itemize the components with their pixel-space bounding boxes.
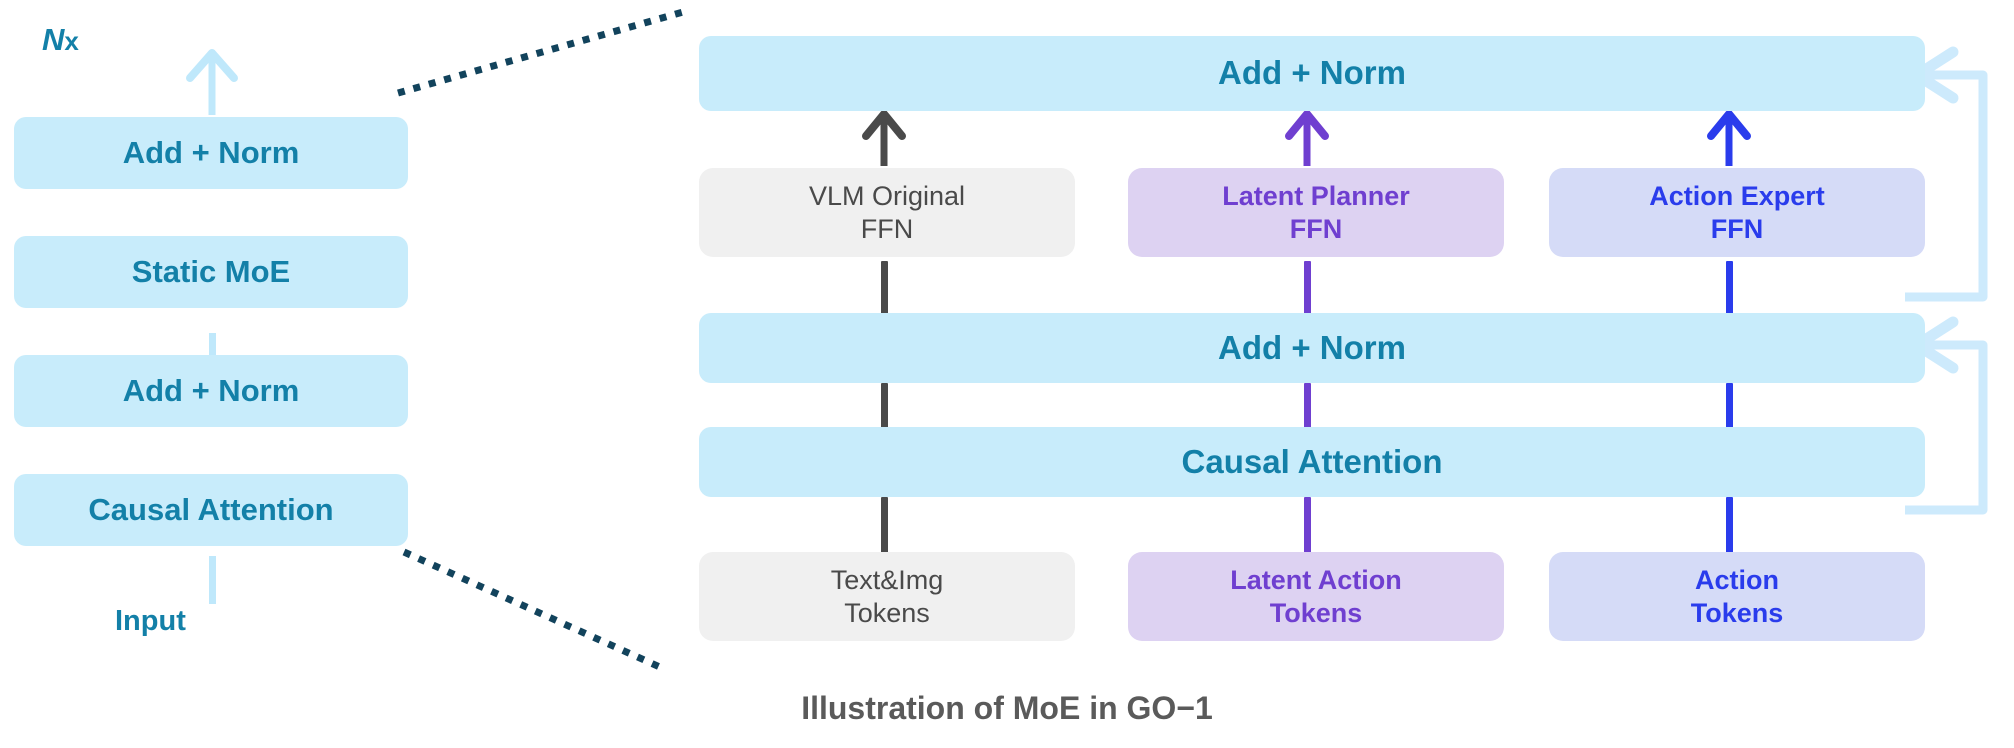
token-box-text-img-line2: Tokens <box>831 597 944 630</box>
token-box-action[interactable]: Action Tokens <box>1549 552 1925 641</box>
ffn-box-action-expert-line2: FFN <box>1649 213 1825 246</box>
ffn-box-latent-planner[interactable]: Latent Planner FFN <box>1128 168 1504 257</box>
ffn-box-latent-planner-line1: Latent Planner <box>1222 180 1410 213</box>
arrow-latent-planner-ffn-to-add-norm <box>1289 114 1325 166</box>
right-top-add-norm-bar[interactable]: Add + Norm <box>699 36 1925 111</box>
repeat-count-value: N <box>42 22 64 57</box>
right-top-add-norm-label: Add + Norm <box>1218 53 1406 93</box>
right-causal-attention-label: Causal Attention <box>1182 442 1443 482</box>
left-spine-segment-4 <box>209 556 216 604</box>
ffn-box-vlm-original-line2: FFN <box>809 213 965 246</box>
dotted-connector-bottom <box>404 552 662 668</box>
connector-text-img-tokens-up <box>881 497 888 554</box>
arrow-vlm-ffn-to-add-norm <box>866 114 902 166</box>
right-mid-add-norm-label: Add + Norm <box>1218 328 1406 368</box>
connector-mid-to-attn-grey <box>881 383 888 428</box>
right-causal-attention-bar[interactable]: Causal Attention <box>699 427 1925 497</box>
connector-mid-to-attn-purple <box>1304 383 1311 428</box>
ffn-box-action-expert-line1: Action Expert <box>1649 180 1825 213</box>
ffn-box-latent-planner-line2: FFN <box>1222 213 1410 246</box>
connector-mid-to-attn-blue <box>1726 383 1733 428</box>
repeat-count-label: Nx <box>42 22 79 58</box>
left-block-causal-attention[interactable]: Causal Attention <box>14 474 408 546</box>
left-block-static-moe[interactable]: Static MoE <box>14 236 408 308</box>
ffn-box-vlm-original[interactable]: VLM Original FFN <box>699 168 1075 257</box>
diagram-canvas: Nx Add + Norm Static MoE Add + Norm Caus… <box>0 0 2014 748</box>
left-block-static-moe-label: Static MoE <box>132 253 290 291</box>
dotted-connector-top <box>398 10 690 93</box>
connector-latent-planner-ffn-down <box>1304 261 1311 315</box>
ffn-box-action-expert[interactable]: Action Expert FFN <box>1549 168 1925 257</box>
token-box-action-line1: Action <box>1691 564 1784 597</box>
connector-action-expert-ffn-down <box>1726 261 1733 315</box>
right-mid-add-norm-bar[interactable]: Add + Norm <box>699 313 1925 383</box>
connector-vlm-ffn-down <box>881 261 888 315</box>
token-box-action-line2: Tokens <box>1691 597 1784 630</box>
left-block-add-norm-bottom-label: Add + Norm <box>123 372 300 410</box>
ffn-box-vlm-original-line1: VLM Original <box>809 180 965 213</box>
token-box-text-img[interactable]: Text&Img Tokens <box>699 552 1075 641</box>
left-block-causal-attention-label: Causal Attention <box>88 491 333 529</box>
input-label: Input <box>115 605 186 638</box>
connector-action-tokens-up <box>1726 497 1733 554</box>
left-block-add-norm-top[interactable]: Add + Norm <box>14 117 408 189</box>
token-box-text-img-line1: Text&Img <box>831 564 944 597</box>
connector-latent-action-tokens-up <box>1304 497 1311 554</box>
left-block-add-norm-bottom[interactable]: Add + Norm <box>14 355 408 427</box>
token-box-latent-action-line1: Latent Action <box>1230 564 1402 597</box>
left-block-add-norm-top-label: Add + Norm <box>123 134 300 172</box>
token-box-latent-action[interactable]: Latent Action Tokens <box>1128 552 1504 641</box>
token-box-latent-action-line2: Tokens <box>1230 597 1402 630</box>
left-stack-output-arrow <box>190 53 234 115</box>
arrow-action-expert-ffn-to-add-norm <box>1711 114 1747 166</box>
repeat-count-multiplier: x <box>64 26 78 56</box>
figure-caption: Illustration of MoE in GO−1 <box>0 690 2014 727</box>
